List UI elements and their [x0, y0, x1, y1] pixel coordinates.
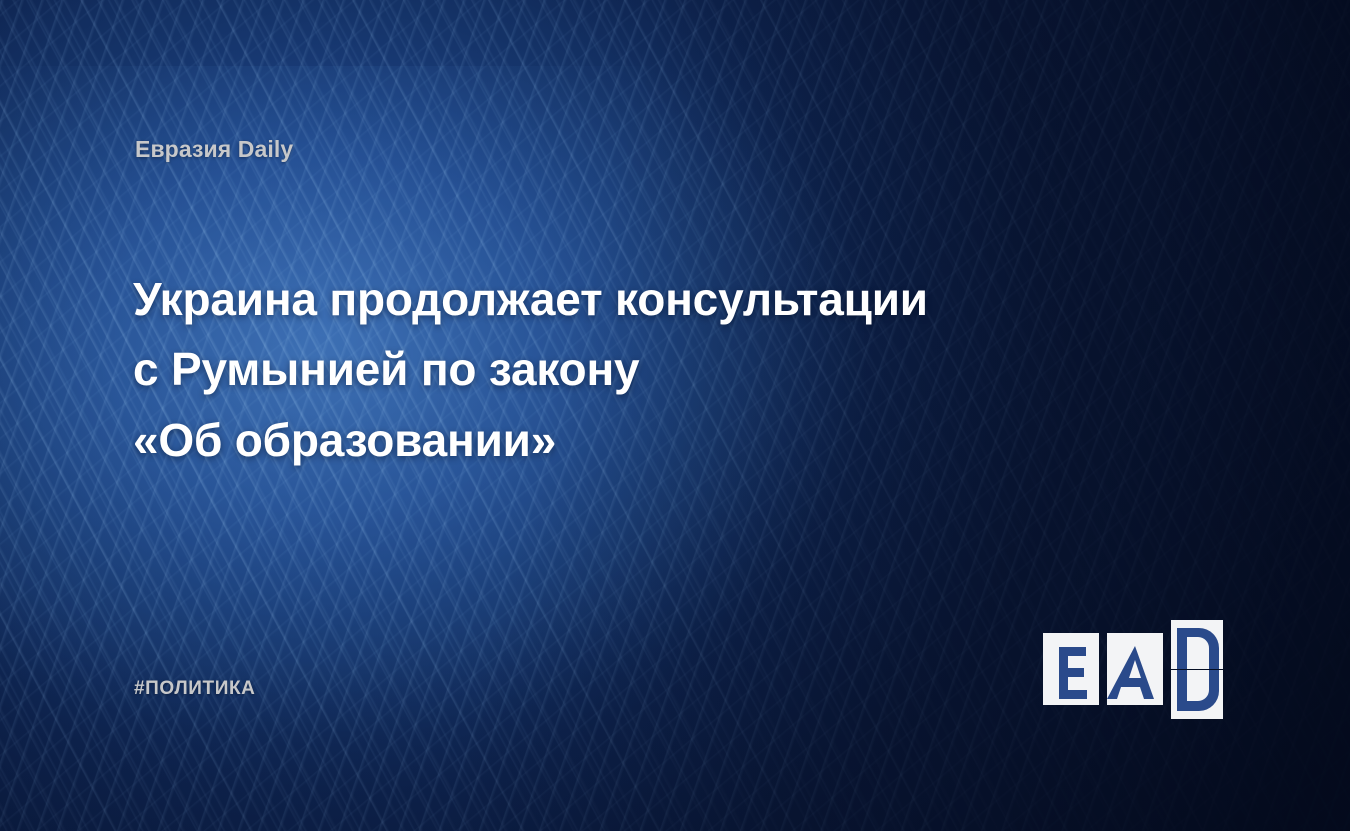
brand-wordmark: Евразия Daily: [135, 136, 293, 163]
headline-line-1: Украина продолжает консультации: [133, 264, 1133, 334]
logo-letter-e: [1059, 647, 1087, 699]
ead-logo-mark: [1043, 620, 1223, 720]
headline: Украина продолжает консультации с Румыни…: [133, 264, 1133, 475]
headline-line-2: с Румынией по закону: [133, 334, 1133, 404]
headline-line-3: «Об образовании»: [133, 405, 1133, 475]
news-social-card: Евразия Daily Украина продолжает консуль…: [0, 0, 1350, 831]
category-hashtag[interactable]: #ПОЛИТИКА: [134, 678, 256, 700]
ead-logo[interactable]: [1043, 620, 1223, 720]
card-content: Евразия Daily Украина продолжает консуль…: [0, 0, 1350, 831]
